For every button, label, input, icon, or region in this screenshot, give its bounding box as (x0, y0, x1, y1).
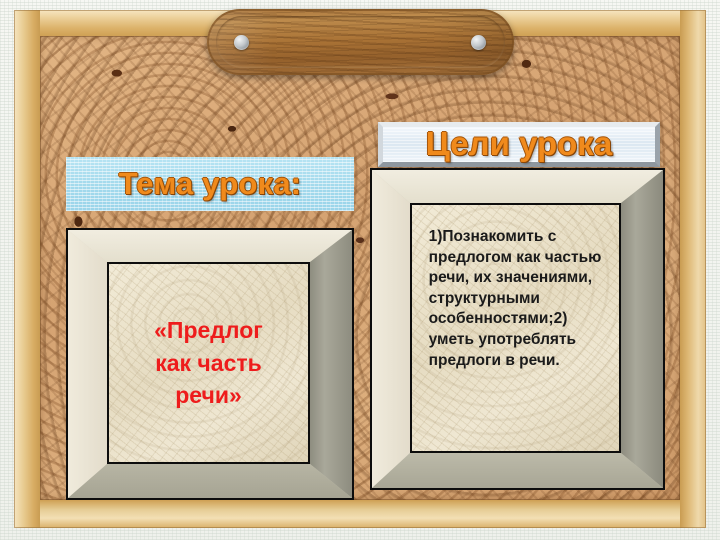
theme-mat-top (68, 230, 352, 262)
goals-text: 1)Познакомить с предлогом как частью реч… (420, 205, 612, 451)
goals-header-banner: Цели урока (378, 122, 660, 167)
theme-header-label: Тема урока: (119, 166, 302, 202)
wood-frame-bottom (14, 500, 706, 528)
goals-mat-right (621, 170, 663, 488)
theme-mat-right (310, 230, 352, 498)
theme-frame: «Предлог как часть речи» (66, 228, 354, 500)
theme-mat-bottom (68, 464, 352, 498)
theme-paper: «Предлог как часть речи» (107, 262, 310, 464)
goals-mat-left (372, 170, 410, 488)
wooden-plaque[interactable] (207, 9, 514, 75)
goals-header-label: Цели урока (426, 125, 612, 163)
theme-mat-left (68, 230, 107, 498)
goals-mat-top (372, 170, 663, 203)
theme-header-banner: Тема урока: (66, 157, 354, 211)
goals-frame: 1)Познакомить с предлогом как частью реч… (370, 168, 665, 490)
plaque-label (207, 9, 514, 75)
goals-mat-bottom (372, 453, 663, 488)
slide-canvas: Тема урока: «Предлог как часть речи» Цел… (0, 0, 720, 540)
wood-frame-left (14, 10, 40, 528)
wood-frame-right (680, 10, 706, 528)
goals-paper: 1)Познакомить с предлогом как частью реч… (410, 203, 621, 453)
theme-text: «Предлог как часть речи» (146, 314, 271, 412)
